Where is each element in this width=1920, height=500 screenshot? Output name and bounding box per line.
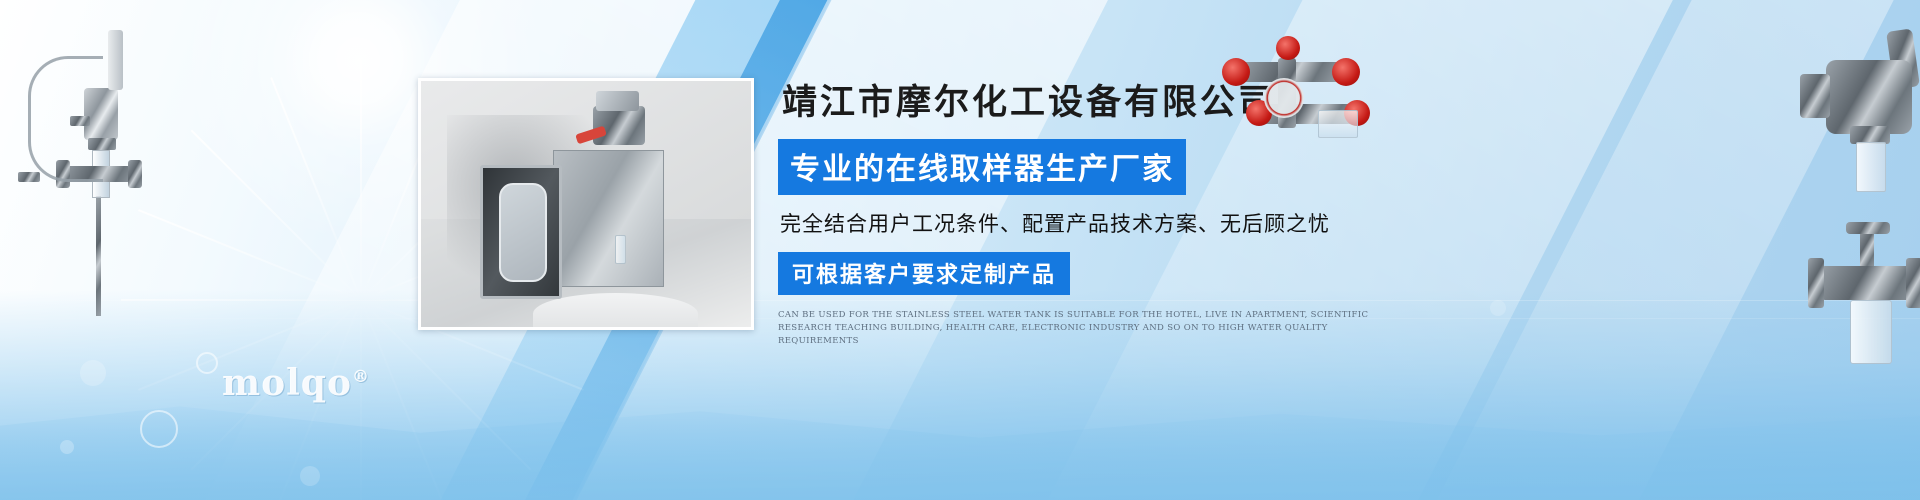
subline-text: 完全结合用户工况条件、配置产品技术方案、无后顾之忧 — [780, 208, 1398, 238]
product-photo — [418, 78, 754, 330]
headline-badge: 专业的在线取样器生产厂家 — [778, 139, 1186, 195]
bubble-icon — [1490, 300, 1506, 316]
bubble-icon — [196, 352, 218, 374]
valve-body-horizontal — [1820, 266, 1920, 300]
sampler-cylinder — [108, 30, 123, 90]
valve-flange — [1906, 258, 1920, 308]
red-handwheel — [1332, 58, 1360, 86]
valve-flange — [1808, 258, 1824, 308]
sampler-tube-loop — [28, 56, 103, 182]
sight-glass-bottle — [1850, 300, 1892, 364]
tagline-badge: 可根据客户要求定制产品 — [778, 252, 1070, 295]
red-handwheel — [1222, 58, 1250, 86]
english-description: CAN BE USED FOR THE STAINLESS STEEL WATE… — [778, 309, 1378, 349]
sample-bottle — [1318, 110, 1358, 138]
sampler-valve — [128, 160, 142, 188]
bubble-icon — [60, 440, 74, 454]
valve-main-body — [1826, 60, 1912, 134]
bubble-icon — [80, 360, 106, 386]
watermark-text: molqo — [222, 362, 352, 404]
promo-banner: 靖江市摩尔化工设备有限公司 专业的在线取样器生产厂家 完全结合用户工况条件、配置… — [0, 0, 1920, 500]
valve-top-handle — [1846, 222, 1890, 234]
bubble-icon — [300, 466, 320, 486]
sampler-end-cap — [18, 172, 40, 182]
sampler-coupling — [70, 116, 90, 126]
red-handwheel — [1276, 36, 1300, 60]
brand-watermark: molqo® — [222, 362, 370, 404]
valve-flange — [1800, 74, 1830, 118]
gauge-icon — [1264, 78, 1304, 118]
valve-stem — [1860, 228, 1874, 270]
registered-mark-icon: ® — [352, 367, 370, 387]
bubble-icon — [140, 410, 178, 448]
sample-bottle — [1856, 142, 1886, 192]
sampler-pole — [96, 196, 101, 316]
